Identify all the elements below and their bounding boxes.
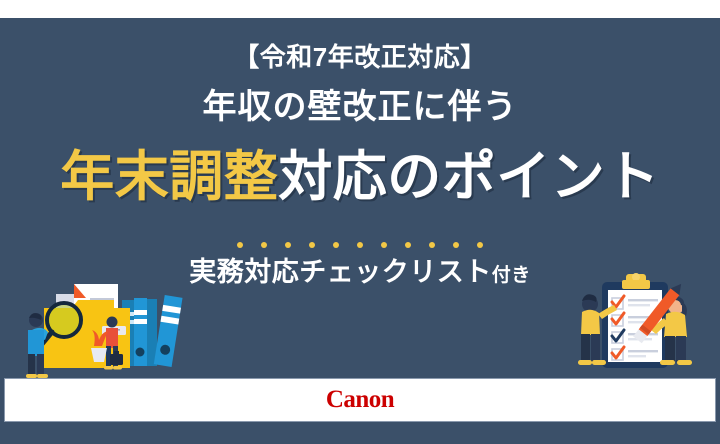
document-search-illustration	[18, 272, 198, 378]
checklist-clipboard-illustration	[556, 268, 712, 378]
promo-banner: 【令和7年改正対応】 年収の壁改正に伴う 年末調整対応のポイント 実務対応チェッ…	[0, 0, 720, 444]
footer-logo-bar: Canon	[4, 378, 716, 422]
ring-binders-icon	[122, 295, 183, 367]
canon-logo: Canon	[326, 386, 394, 414]
